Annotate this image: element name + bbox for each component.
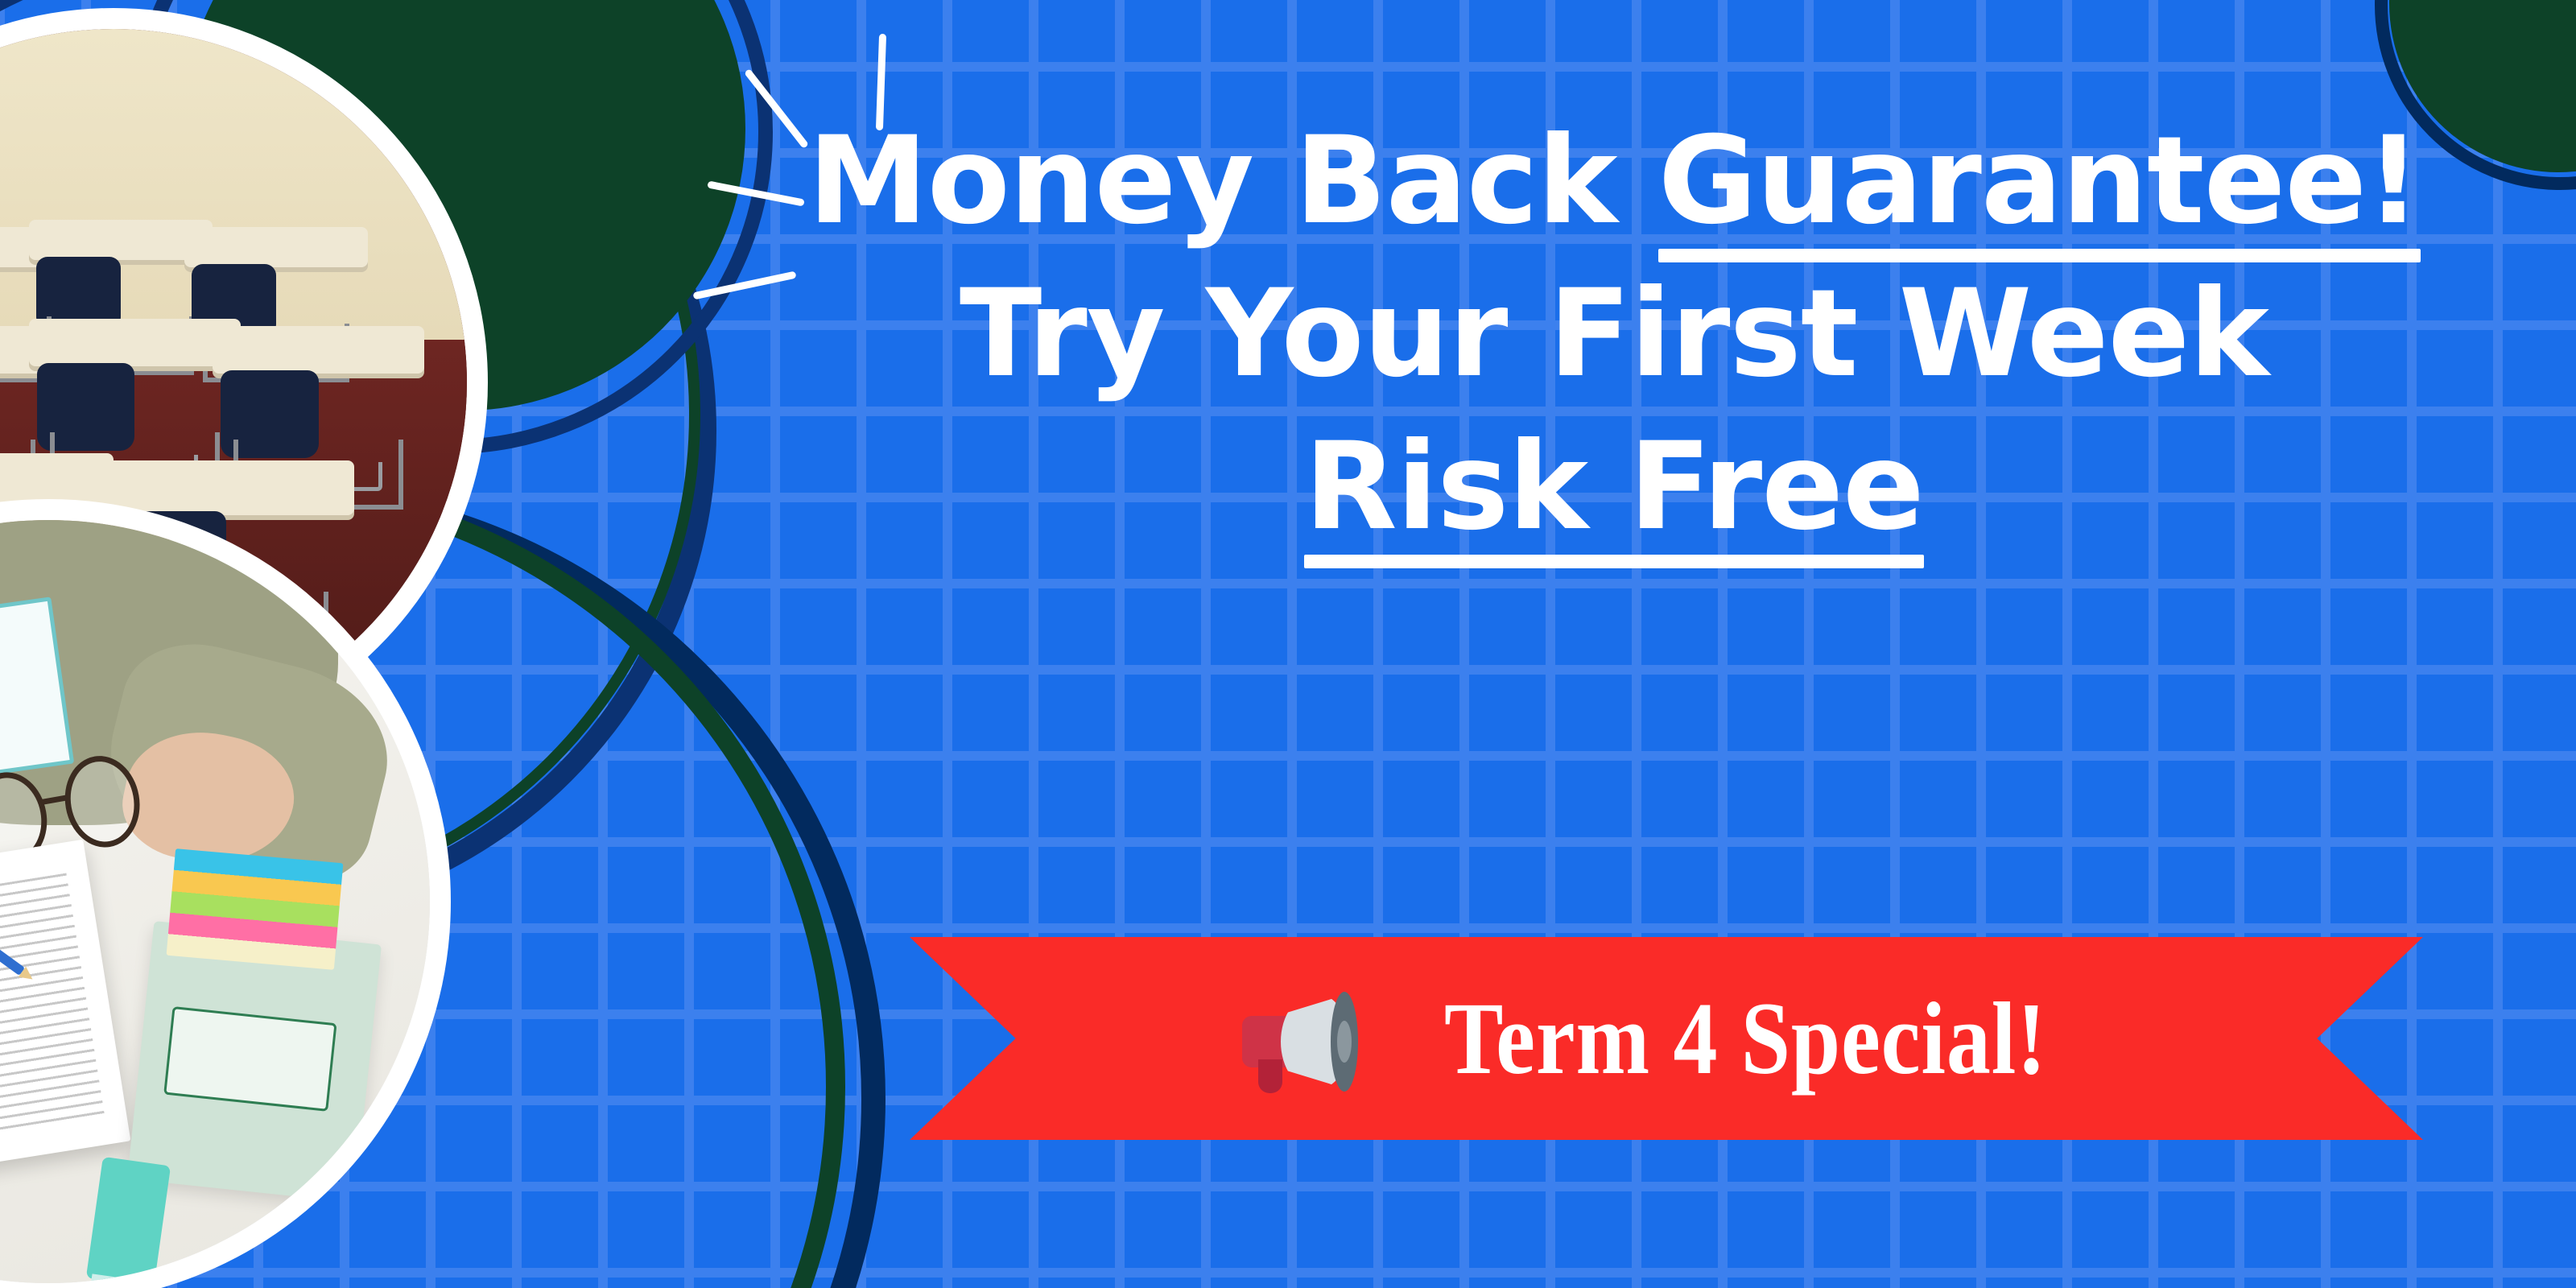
study-desk-illustration [0, 520, 430, 1283]
headline-line-3: Risk Free [708, 427, 2520, 547]
headline-line-2: Try Your First Week [708, 274, 2520, 394]
promo-banner: Money Back Guarantee! Try Your First Wee… [0, 0, 2576, 1288]
headline-line-1-underlined: Guarantee! [1658, 121, 2421, 242]
green-folder [127, 921, 382, 1203]
headline: Money Back Guarantee! Try Your First Wee… [708, 121, 2520, 547]
headline-line-1: Money Back Guarantee! [708, 121, 2520, 242]
photo-student-studying [0, 499, 451, 1288]
special-offer-ribbon[interactable]: Term 4 Special! [910, 937, 2423, 1140]
headline-line-3-underlined: Risk Free [1304, 427, 1924, 547]
sticky-notes [166, 848, 342, 969]
headline-line-1-plain: Money Back [808, 111, 1658, 251]
photo-student-studying-image [0, 520, 430, 1283]
megaphone-icon [1237, 992, 1360, 1092]
special-offer-label: Term 4 Special! [1444, 987, 2047, 1090]
